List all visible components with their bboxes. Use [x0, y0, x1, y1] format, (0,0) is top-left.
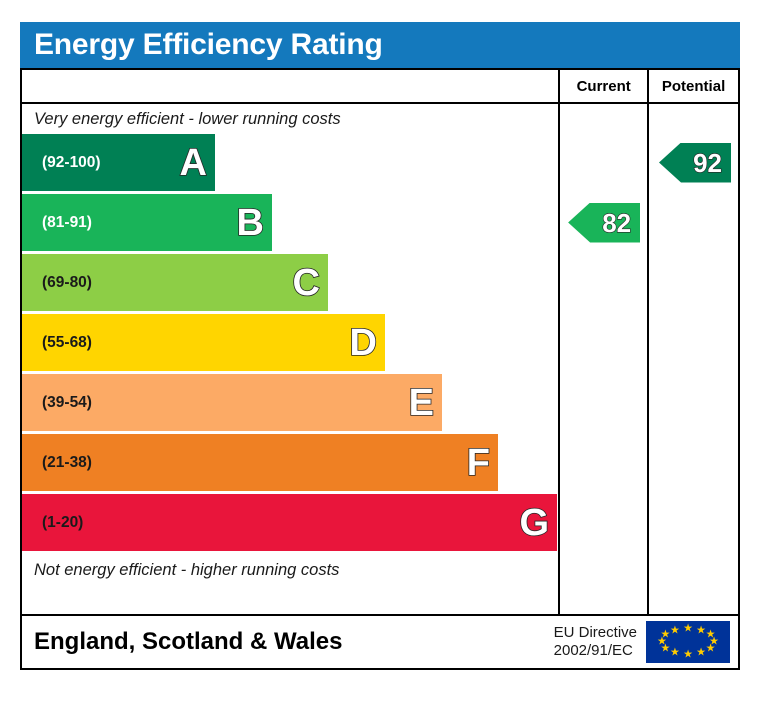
current-rating-marker: 82 [568, 203, 640, 243]
column-header-potential: Potential [649, 70, 738, 102]
rating-band-f: (21-38)F [22, 434, 498, 491]
band-range-e: (39-54) [22, 394, 92, 412]
band-range-d: (55-68) [22, 334, 92, 352]
caption-top: Very energy efficient - lower running co… [22, 104, 558, 134]
eu-flag-icon: ★★★★★★★★★★★★ [646, 621, 730, 663]
directive-line-1: EU Directive [554, 624, 637, 642]
band-range-c: (69-80) [22, 274, 92, 292]
band-letter-e: E [409, 384, 434, 422]
current-rating-column: 82 [560, 104, 649, 614]
rating-band-d: (55-68)D [22, 314, 385, 371]
eu-star-icon: ★ [696, 648, 706, 659]
eu-star-icon: ★ [683, 623, 693, 634]
header-blank-cell [22, 70, 560, 102]
caption-bottom: Not energy efficient - higher running co… [22, 554, 558, 586]
rating-band-g: (1-20)G [22, 494, 557, 551]
column-header-current: Current [560, 70, 649, 102]
footer-region-label: England, Scotland & Wales [22, 628, 554, 656]
band-range-g: (1-20) [22, 514, 83, 532]
rating-band-e: (39-54)E [22, 374, 442, 431]
directive-line-2: 2002/91/EC [554, 642, 637, 660]
band-range-f: (21-38) [22, 454, 92, 472]
eu-star-icon: ★ [670, 625, 680, 636]
chart-frame: Current Potential Very energy efficient … [20, 68, 740, 670]
rating-band-b: (81-91)B [22, 194, 272, 251]
band-range-b: (81-91) [22, 214, 92, 232]
potential-rating-marker-value: 92 [693, 150, 722, 176]
energy-efficiency-certificate: Energy Efficiency Rating Current Potenti… [20, 22, 740, 670]
band-letter-f: F [467, 444, 490, 482]
potential-rating-marker: 92 [659, 143, 731, 183]
eu-star-icon: ★ [696, 625, 706, 636]
potential-rating-column: 92 [649, 104, 738, 614]
column-header-row: Current Potential [22, 70, 738, 104]
eu-star-icon: ★ [706, 643, 716, 654]
bands-column: Very energy efficient - lower running co… [22, 104, 560, 614]
band-letter-a: A [180, 144, 207, 182]
rating-band-c: (69-80)C [22, 254, 328, 311]
eu-star-icon: ★ [661, 630, 671, 641]
band-list: (92-100)A(81-91)B(69-80)C(55-68)D(39-54)… [22, 134, 558, 551]
chart-body: Very energy efficient - lower running co… [22, 104, 738, 614]
footer-row: England, Scotland & Wales EU Directive 2… [22, 614, 738, 668]
rating-band-a: (92-100)A [22, 134, 215, 191]
band-letter-d: D [350, 324, 377, 362]
eu-star-icon: ★ [683, 650, 693, 661]
chart-title-bar: Energy Efficiency Rating [20, 22, 740, 68]
band-letter-c: C [293, 264, 320, 302]
current-rating-marker-value: 82 [602, 210, 631, 236]
footer-directive-label: EU Directive 2002/91/EC [554, 624, 646, 661]
band-letter-g: G [519, 504, 549, 542]
page-title: Energy Efficiency Rating [34, 30, 383, 60]
eu-star-icon: ★ [670, 648, 680, 659]
band-letter-b: B [237, 204, 264, 242]
band-range-a: (92-100) [22, 154, 101, 172]
